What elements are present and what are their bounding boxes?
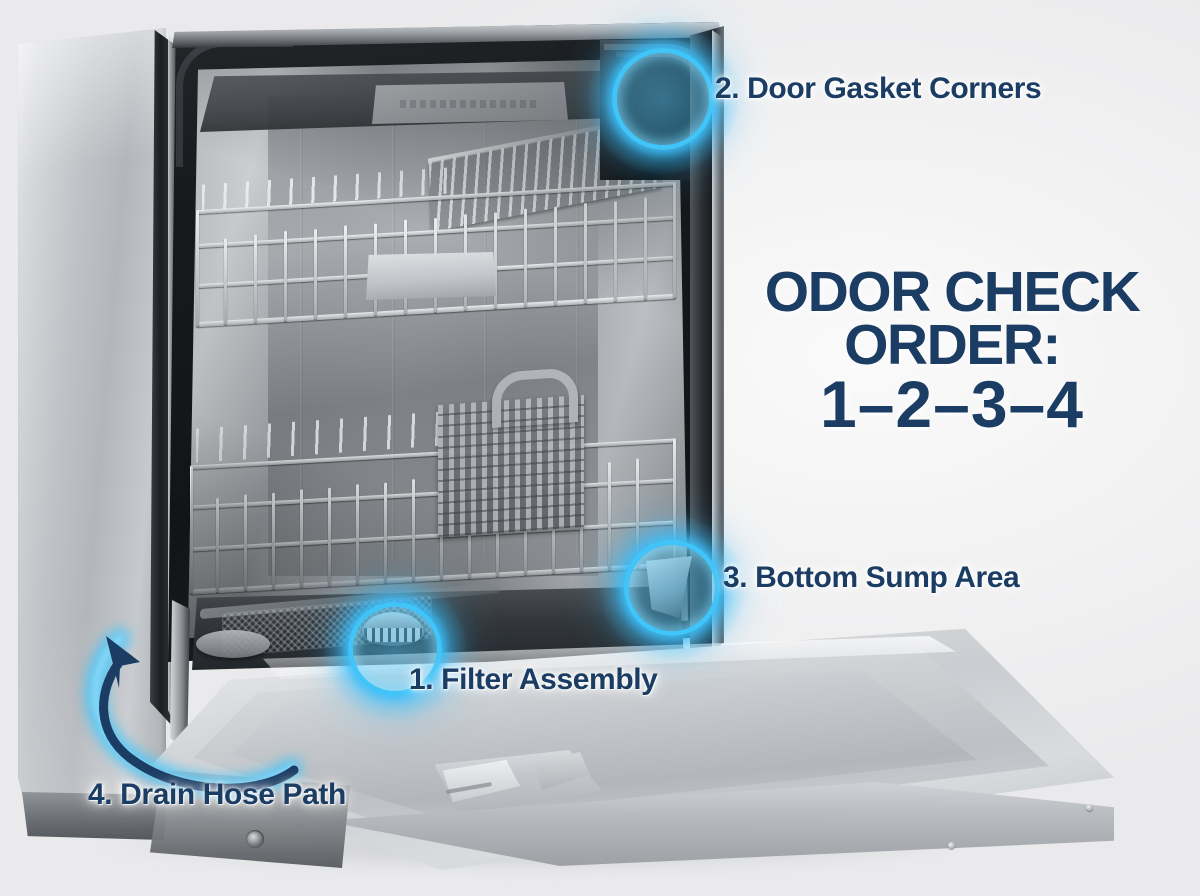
highlight-circle-door-gasket-corners xyxy=(612,48,714,150)
callout-label-door-gasket-corners: 2. Door Gasket Corners xyxy=(715,72,1041,106)
callout-label-filter-assembly: 1. Filter Assembly xyxy=(409,663,657,697)
drain-hose-arrow xyxy=(62,600,322,800)
kick-plate-port xyxy=(246,830,264,848)
glow-ring xyxy=(612,48,714,150)
headline-line-3: 1–2–3–4 xyxy=(752,374,1152,435)
highlight-circle-bottom-sump-area xyxy=(624,540,720,636)
callout-label-drain-hose-path: 4. Drain Hose Path xyxy=(88,778,346,812)
infographic-canvas: 1. Filter Assembly 2. Door Gasket Corner… xyxy=(0,0,1200,896)
callout-label-bottom-sump-area: 3. Bottom Sump Area xyxy=(723,561,1019,595)
headline-block: ODOR CHECK ORDER: 1–2–3–4 xyxy=(752,266,1152,435)
door-screw xyxy=(948,842,955,849)
headline-line-2: ORDER: xyxy=(752,319,1152,372)
door-gasket-corner-left xyxy=(176,40,293,167)
glow-ring xyxy=(624,540,720,636)
headline-line-1: ODOR CHECK xyxy=(752,266,1152,319)
door-screw xyxy=(1086,804,1093,811)
